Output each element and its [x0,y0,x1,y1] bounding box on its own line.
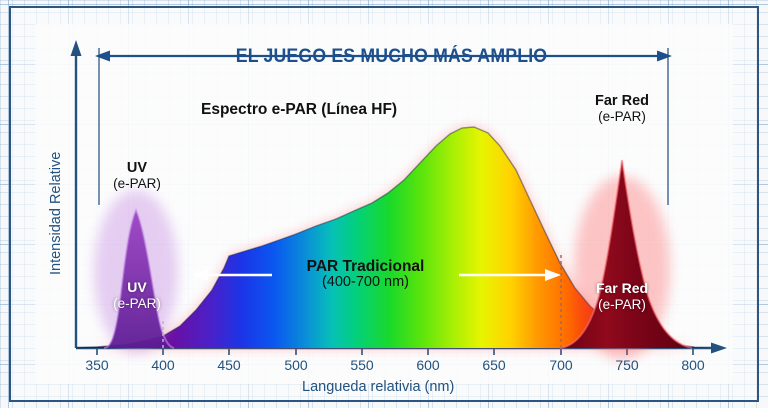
uv-label-above-title: UV [99,160,175,176]
spectrum-title: Espectro e-PAR (Línea HF) [201,101,397,119]
uv-label-above: UV (e-PAR) [99,160,175,191]
xtick-800: 800 [669,357,717,373]
xtick-600: 600 [404,357,452,373]
far-red-label-above: Far Red (e-PAR) [569,93,675,124]
spectrum-infographic: EL JUEGO ES MUCHO MÁS AMPLIO Espectro e-… [0,0,768,408]
xtick-400: 400 [139,357,187,373]
par-traditional-title: PAR Tradicional [278,258,453,275]
xtick-500: 500 [272,357,320,373]
par-traditional-label: PAR Tradicional (400-700 nm) [278,258,453,291]
uv-label-above-sub: (e-PAR) [99,176,175,191]
far-red-label-inside-title: Far Red [570,281,674,297]
uv-label-inside-title: UV [98,280,176,296]
xtick-650: 650 [470,357,518,373]
y-axis-arrowhead [71,40,82,56]
par-traditional-range: (400-700 nm) [278,275,453,291]
xtick-350: 350 [73,357,121,373]
headline-span-arrow [95,48,672,205]
xtick-700: 700 [537,357,585,373]
far-red-label-inside: Far Red (e-PAR) [570,281,674,312]
xtick-450: 450 [205,357,253,373]
far-red-label-inside-sub: (e-PAR) [570,297,674,312]
uv-label-inside-sub: (e-PAR) [98,296,176,311]
xtick-550: 550 [338,357,386,373]
y-axis-title: Intensidad Relative [48,152,64,275]
far-red-label-above-title: Far Red [569,93,675,109]
xtick-750: 750 [603,357,651,373]
far-red-label-above-sub: (e-PAR) [569,109,675,124]
x-axis-title: Langueda relativia (nm) [302,379,454,395]
headline-title: EL JUEGO ES MUCHO MÁS AMPLIO [236,46,548,68]
uv-label-inside: UV (e-PAR) [98,280,176,311]
